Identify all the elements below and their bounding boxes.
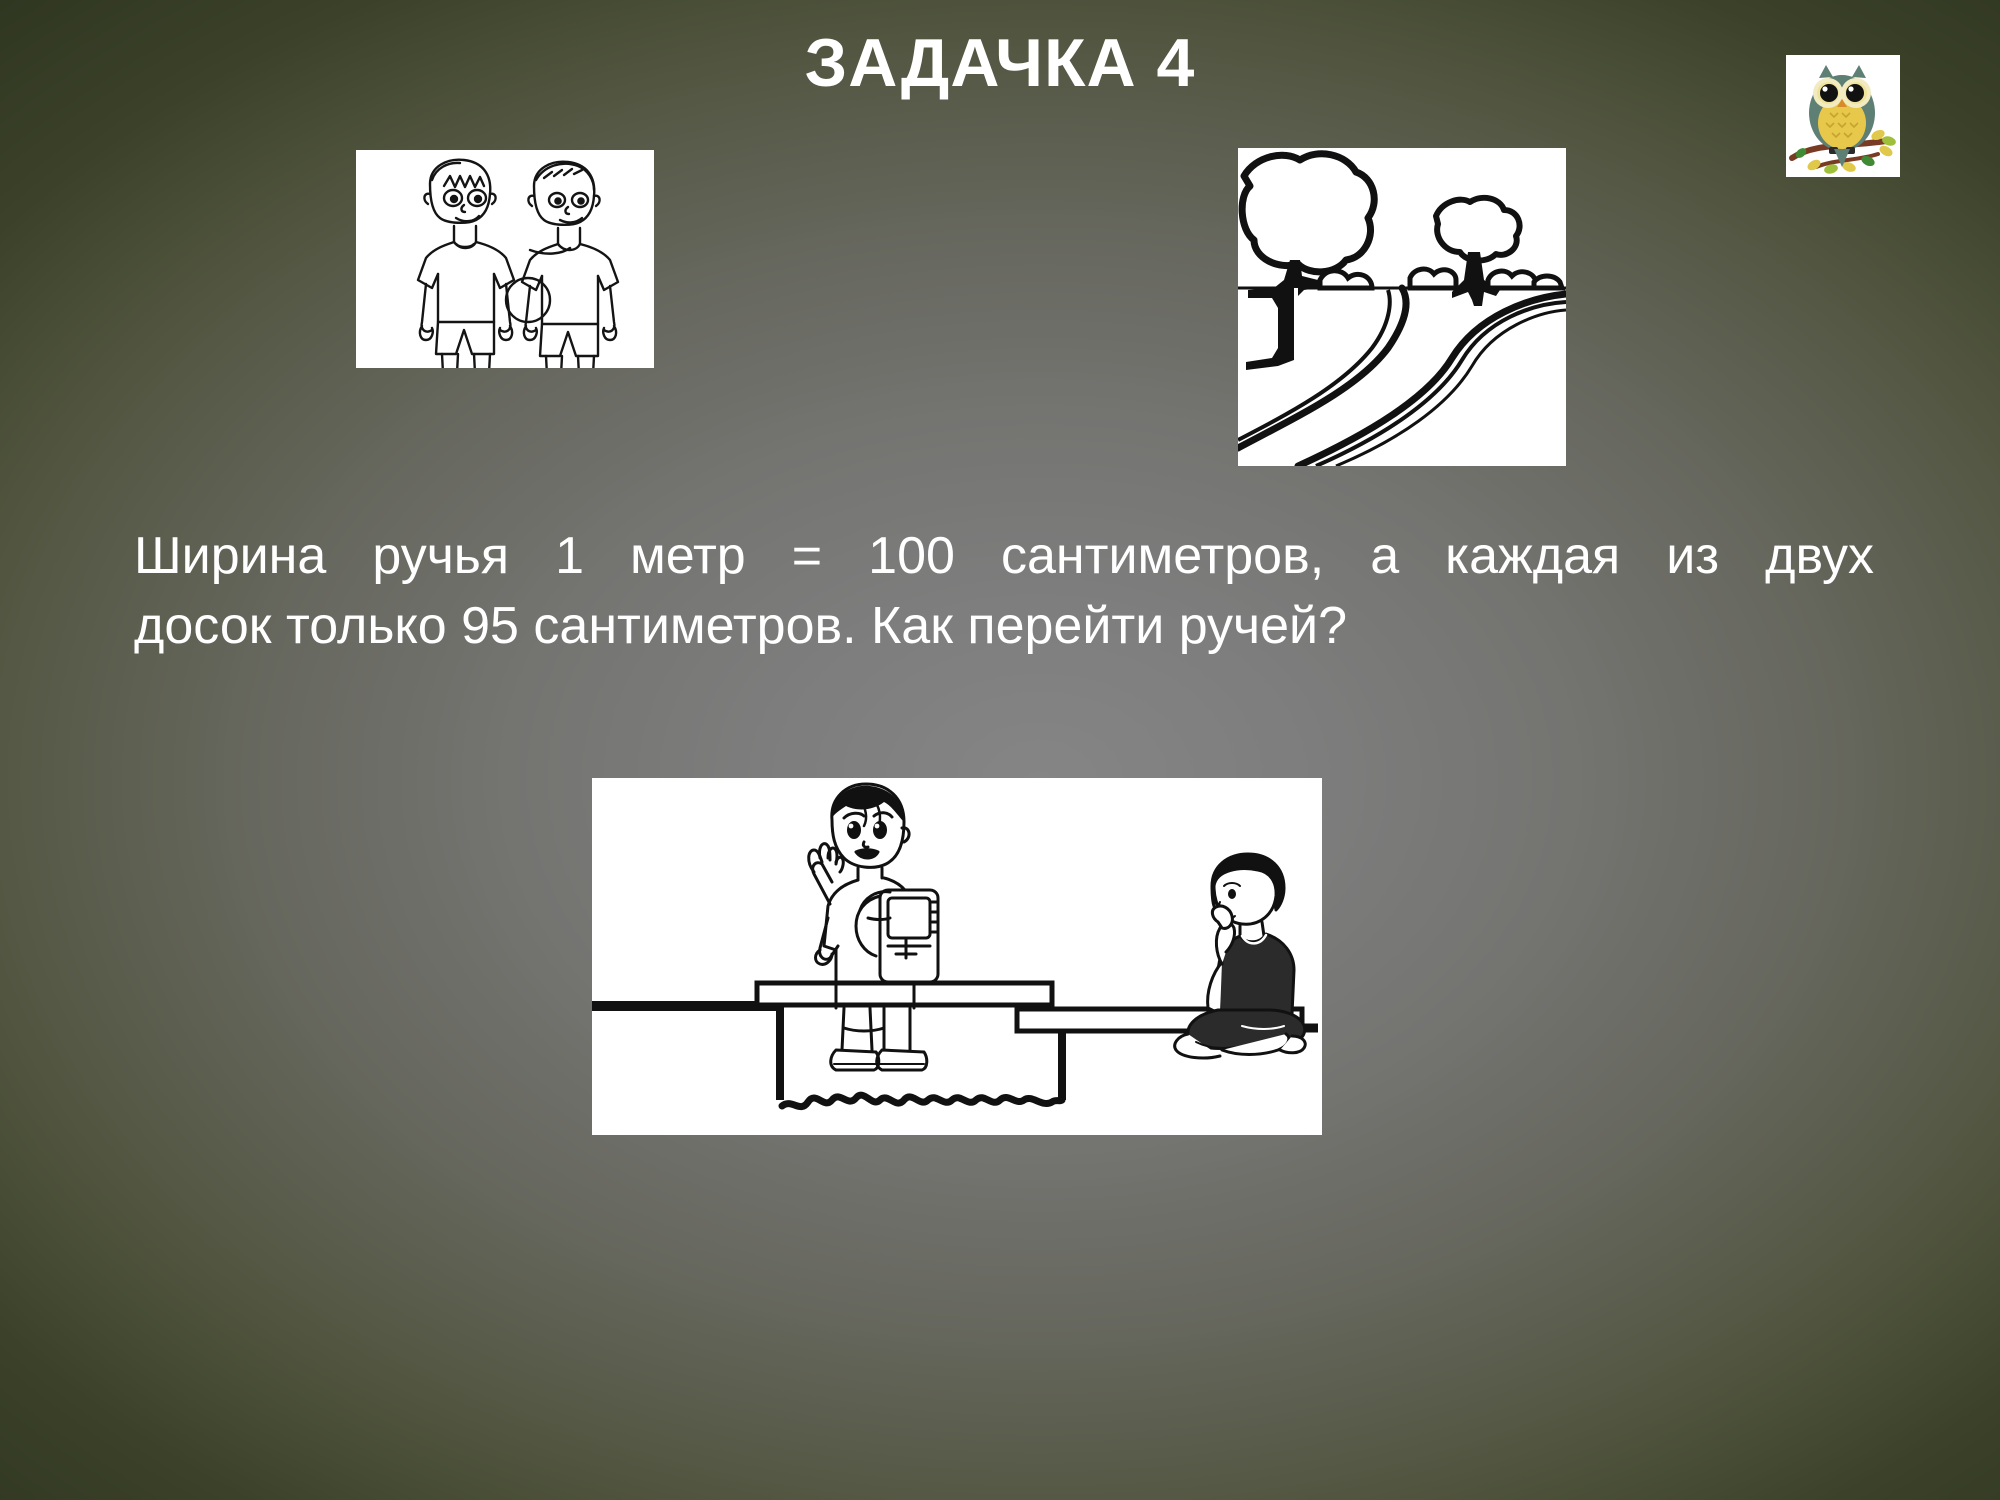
owl-on-branch-logo <box>1786 55 1900 177</box>
problem-text: Ширина ручья 1 метр = 100 сантиметров, а… <box>134 522 1874 661</box>
boy-on-plank-scene-illustration <box>592 778 1322 1135</box>
problem-text-line-2: досок только 95 сантиметров. Как перейти… <box>134 592 1874 662</box>
stream-landscape-illustration <box>1238 148 1566 466</box>
two-boys-illustration <box>356 150 654 368</box>
slide-canvas: ЗАДАЧКА 4 <box>0 0 2000 1500</box>
page-title: ЗАДАЧКА 4 <box>0 28 2000 99</box>
problem-text-line-1: Ширина ручья 1 метр = 100 сантиметров, а… <box>134 522 1874 592</box>
